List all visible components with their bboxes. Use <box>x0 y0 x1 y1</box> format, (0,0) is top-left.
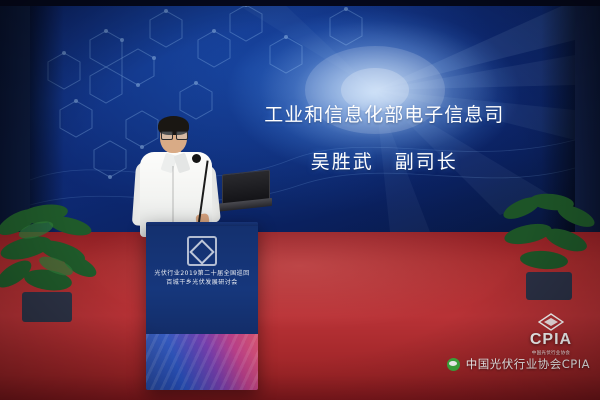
wechat-icon <box>447 358 460 371</box>
podium-text: 光伏行业2019第二十届全国巡回 百城干乡光伏发展研讨会 <box>154 270 250 287</box>
led-screen: 工业和信息化部电子信息司 吴胜武 副司长 <box>30 0 575 232</box>
floor-light-reflection <box>0 232 600 400</box>
cpia-diamond-emblem-icon <box>187 236 217 266</box>
ceiling-strip <box>0 0 600 6</box>
cpia-logo: CPIA 中国光伏行业协会 <box>514 313 588 356</box>
wechat-account-name: 中国光伏行业协会CPIA <box>466 356 590 372</box>
microphone <box>192 154 201 163</box>
podium-top-surface <box>146 222 258 226</box>
podium-text-line2: 百城干乡光伏发展研讨会 <box>154 279 250 288</box>
cpia-mark-icon <box>538 313 564 331</box>
cpia-name: CPIA <box>514 332 588 348</box>
conference-photo: 工业和信息化部电子信息司 吴胜武 副司长 <box>0 0 600 400</box>
screen-edge-left <box>30 0 64 232</box>
podium: 光伏行业2019第二十届全国巡回 百城干乡光伏发展研讨会 <box>146 222 258 390</box>
red-carpet-floor <box>0 232 600 400</box>
podium-text-line1: 光伏行业2019第二十届全国巡回 <box>154 270 250 279</box>
wechat-watermark: 中国光伏行业协会CPIA <box>447 356 590 372</box>
screen-title: 工业和信息化部电子信息司 <box>215 104 553 127</box>
podium-ribbon-graphic <box>146 334 258 390</box>
screen-caption: 工业和信息化部电子信息司 吴胜武 副司长 <box>215 104 553 174</box>
